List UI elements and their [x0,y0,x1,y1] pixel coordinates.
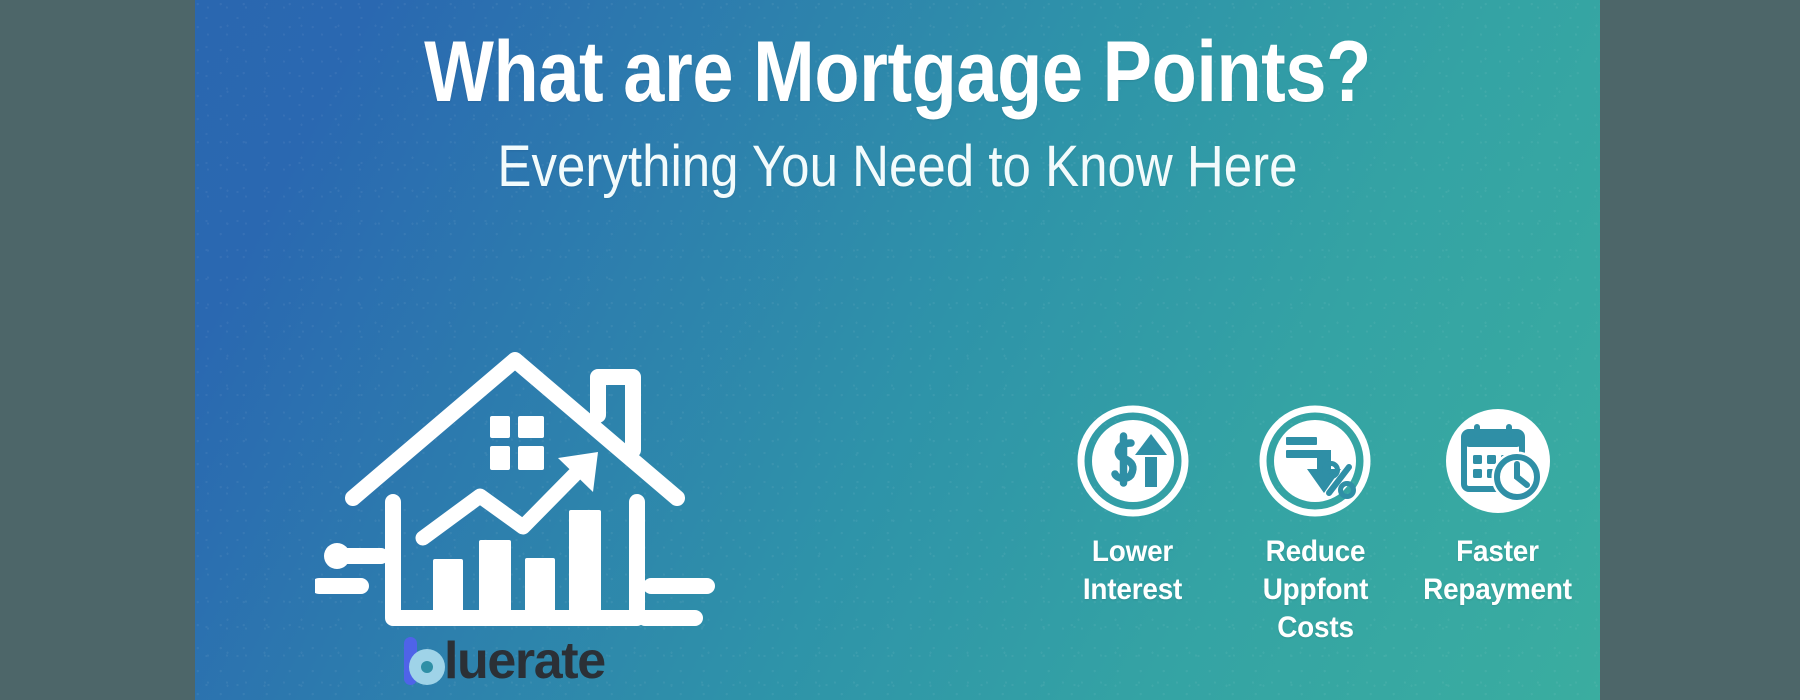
page-title: What are Mortgage Points? [293,26,1501,119]
banner-headings: What are Mortgage Points? Everything You… [195,26,1600,199]
illustration-dot [324,543,350,569]
logo-wordmark: luerate [444,635,605,687]
benefit-label-line2: Interest [1056,571,1209,609]
benefit-faster-repayment: Faster Repayment [1415,405,1580,609]
clock-glyph [1495,455,1539,499]
four-pane-window [490,416,544,470]
benefit-label-line1: Lower [1056,533,1209,571]
benefit-label-line1: Reduce [1238,533,1391,571]
dollar-up-arrow-icon [1077,405,1189,517]
mortgage-points-banner: What are Mortgage Points? Everything You… [195,0,1600,700]
page-subtitle: Everything You Need to Know Here [279,135,1515,199]
calendar-clock-icon [1442,405,1554,517]
benefit-label: Lower Interest [1056,533,1209,609]
benefit-label: Reduce Uppfont Costs [1238,533,1391,647]
down-arrow-percent-icon [1259,405,1371,517]
benefit-reduce-upfront-costs: Reduce Uppfont Costs [1233,405,1398,647]
rising-trend-arrow [423,462,587,538]
benefit-label-line2: Uppfont Costs [1238,571,1391,647]
screenshot-stage: What are Mortgage Points? Everything You… [0,0,1800,700]
house-growth-chart-illustration [315,330,715,650]
bluerate-logo[interactable]: luerate [398,630,605,692]
benefits-row: Lower Interest [1050,405,1580,647]
benefit-lower-interest: Lower Interest [1050,405,1215,609]
benefit-label-line2: Repayment [1421,571,1574,609]
benefit-label: Faster Repayment [1421,533,1574,609]
benefit-label-line1: Faster [1421,533,1574,571]
